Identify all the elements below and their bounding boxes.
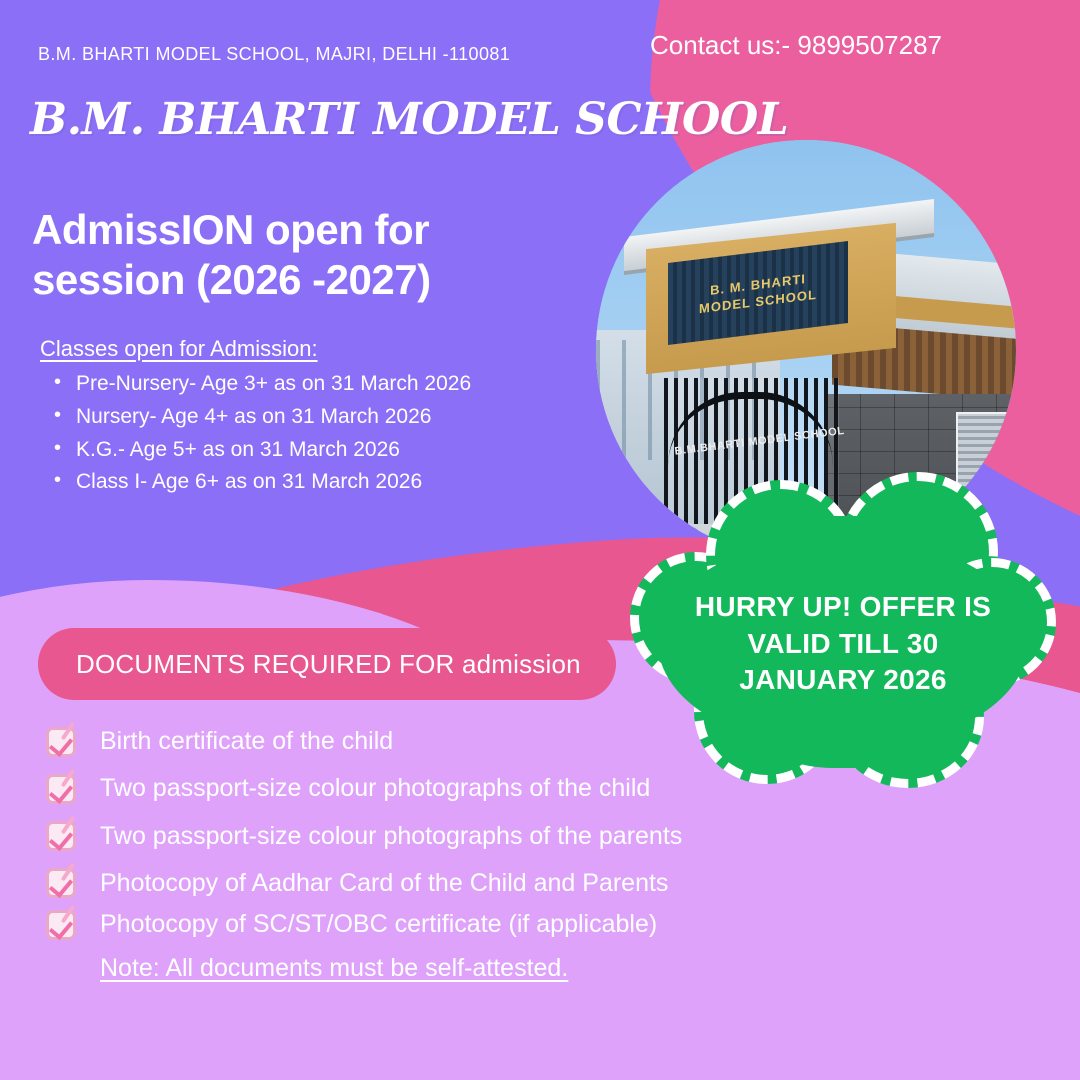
classes-section-title: Classes open for Admission:	[40, 336, 580, 362]
documents-list: Birth certificate of the child Two passp…	[46, 726, 1006, 983]
document-label: Photocopy of SC/ST/OBC certificate (if a…	[100, 909, 657, 940]
classes-section: Classes open for Admission: Pre-Nursery-…	[40, 336, 580, 499]
document-label: Photocopy of Aadhar Card of the Child an…	[100, 868, 668, 899]
list-item: Photocopy of Aadhar Card of the Child an…	[46, 868, 1006, 899]
school-address: B.M. BHARTI MODEL SCHOOL, MAJRI, DELHI -…	[38, 44, 510, 65]
admission-heading-line-2: session (2026 -2027)	[32, 255, 431, 305]
list-item: Nursery- Age 4+ as on 31 March 2026	[40, 401, 580, 434]
list-item: K.G.- Age 5+ as on 31 March 2026	[40, 434, 580, 467]
document-label: Two passport-size colour photographs of …	[100, 821, 682, 852]
offer-line-1: HURRY UP! OFFER IS	[695, 589, 991, 625]
list-item: Pre-Nursery- Age 3+ as on 31 March 2026	[40, 368, 580, 401]
checkbox-checked-icon	[46, 910, 76, 940]
checkbox-checked-icon	[46, 774, 76, 804]
list-item: Class I- Age 6+ as on 31 March 2026	[40, 466, 580, 499]
classes-list: Pre-Nursery- Age 3+ as on 31 March 2026 …	[40, 368, 580, 499]
admission-heading: AdmissION open for session (2026 -2027)	[32, 205, 431, 304]
offer-line-2: VALID TILL 30	[747, 626, 938, 662]
list-item: Birth certificate of the child	[46, 726, 1006, 757]
list-item: Photocopy of SC/ST/OBC certificate (if a…	[46, 909, 1006, 940]
document-label: Two passport-size colour photographs of …	[100, 773, 650, 804]
checkbox-checked-icon	[46, 868, 76, 898]
checkbox-checked-icon	[46, 821, 76, 851]
document-label: Birth certificate of the child	[100, 726, 393, 757]
documents-banner: DOCUMENTS REQUIRED FOR admission	[38, 628, 616, 700]
documents-note: Note: All documents must be self-atteste…	[100, 954, 1006, 983]
checkbox-checked-icon	[46, 727, 76, 757]
list-item: Two passport-size colour photographs of …	[46, 821, 1006, 852]
admission-heading-line-1: AdmissION open for	[32, 205, 431, 255]
list-item: Two passport-size colour photographs of …	[46, 773, 1006, 804]
documents-banner-label: DOCUMENTS REQUIRED FOR admission	[38, 649, 581, 680]
admission-poster: B.M.BHARTI MODEL SCHOOL B. M. BHARTI MOD…	[0, 0, 1080, 1080]
contact-info[interactable]: Contact us:- 9899507287	[650, 30, 942, 61]
school-name-title: B.M. BHARTI MODEL SCHOOL	[30, 94, 788, 145]
offer-line-3: JANUARY 2026	[739, 662, 946, 698]
